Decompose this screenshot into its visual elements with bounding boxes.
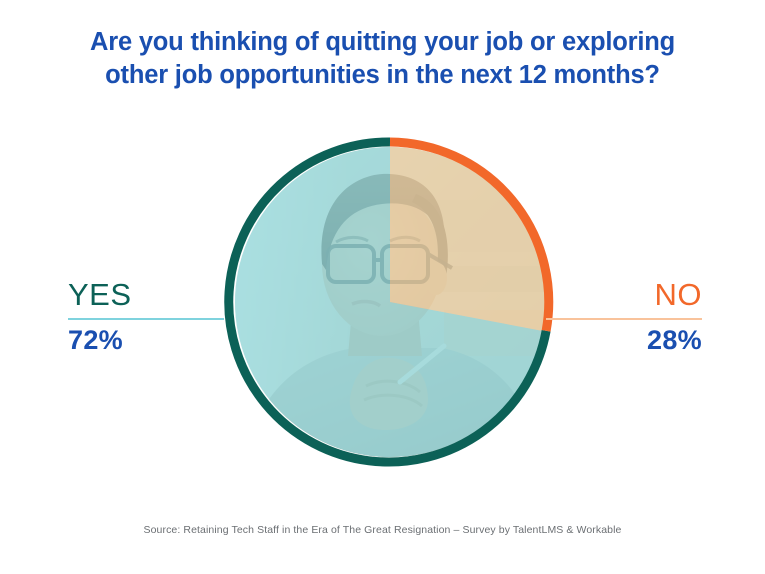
legend-yes-divider: [68, 318, 224, 320]
pie-chart: [230, 142, 550, 462]
legend-yes-percent: 72%: [50, 324, 250, 356]
page-title-line-2: other job opportunities in the next 12 m…: [0, 59, 765, 92]
page-title: Are you thinking of quitting your job or…: [0, 26, 765, 92]
legend-yes: YES 72%: [50, 278, 250, 356]
pie-chart-svg: [230, 142, 550, 462]
legend-yes-word: YES: [50, 278, 250, 312]
legend-no-word: NO: [520, 278, 720, 312]
page-title-line-1: Are you thinking of quitting your job or…: [0, 26, 765, 59]
legend-no-percent: 28%: [520, 324, 720, 356]
legend-no: NO 28%: [520, 278, 720, 356]
legend-no-divider: [546, 318, 702, 320]
source-caption: Source: Retaining Tech Staff in the Era …: [0, 524, 765, 536]
